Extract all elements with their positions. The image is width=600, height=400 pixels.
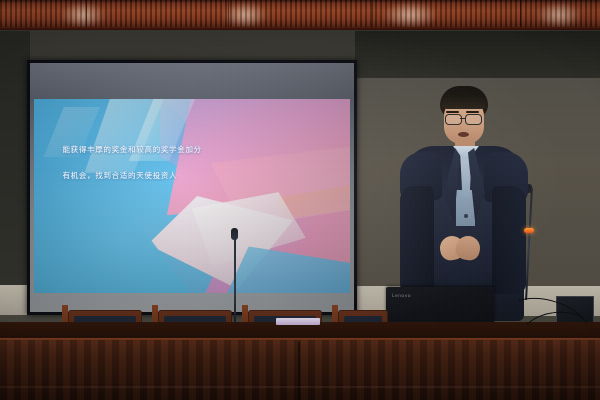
coat-button-1	[464, 214, 468, 218]
projection-screen: 能获得丰厚的奖金和较高的奖学金加分 有机会，找到合适的天使投资人	[27, 60, 357, 315]
eyeglasses-lens-left	[445, 114, 462, 125]
presenter-hands	[440, 236, 484, 262]
microphone-indicator-light	[524, 228, 534, 233]
laptop-brand-logo: Lenovo	[392, 294, 411, 299]
presenter-arm-left	[400, 186, 434, 294]
slide-text-block: 能获得丰厚的奖金和较高的奖学金加分 有机会，找到合适的天使投资人	[62, 146, 321, 180]
presenter-eyebrow-left	[446, 111, 459, 113]
upper-right-wall-shadow	[355, 31, 600, 83]
screen-surface: 能获得丰厚的奖金和较高的奖学金加分 有机会，找到合适的天使投资人	[30, 63, 354, 312]
presenter-mouth	[458, 132, 469, 137]
front-desk-seam	[298, 342, 300, 400]
eyeglasses-bridge	[460, 118, 465, 119]
slide-line-2: 有机会，找到合适的天使投资人	[62, 172, 321, 180]
eyeglasses-lens-right	[465, 114, 482, 125]
slide-line-1: 能获得丰厚的奖金和较高的奖学金加分	[62, 146, 321, 154]
lecture-hall-photo: 能获得丰厚的奖金和较高的奖学金加分 有机会，找到合适的天使投资人	[0, 0, 600, 400]
left-wall-panel	[0, 31, 30, 291]
presenter-arm-right	[492, 186, 526, 294]
screen-vignette	[30, 63, 354, 312]
front-desk-lower-line	[0, 386, 600, 388]
paper-on-desk	[276, 318, 320, 325]
presenter	[398, 86, 528, 321]
front-desk	[0, 340, 600, 400]
presenter-eyebrow-right	[466, 111, 479, 113]
presenter-hair-front	[442, 94, 486, 109]
wood-panel-ceiling	[0, 0, 600, 30]
